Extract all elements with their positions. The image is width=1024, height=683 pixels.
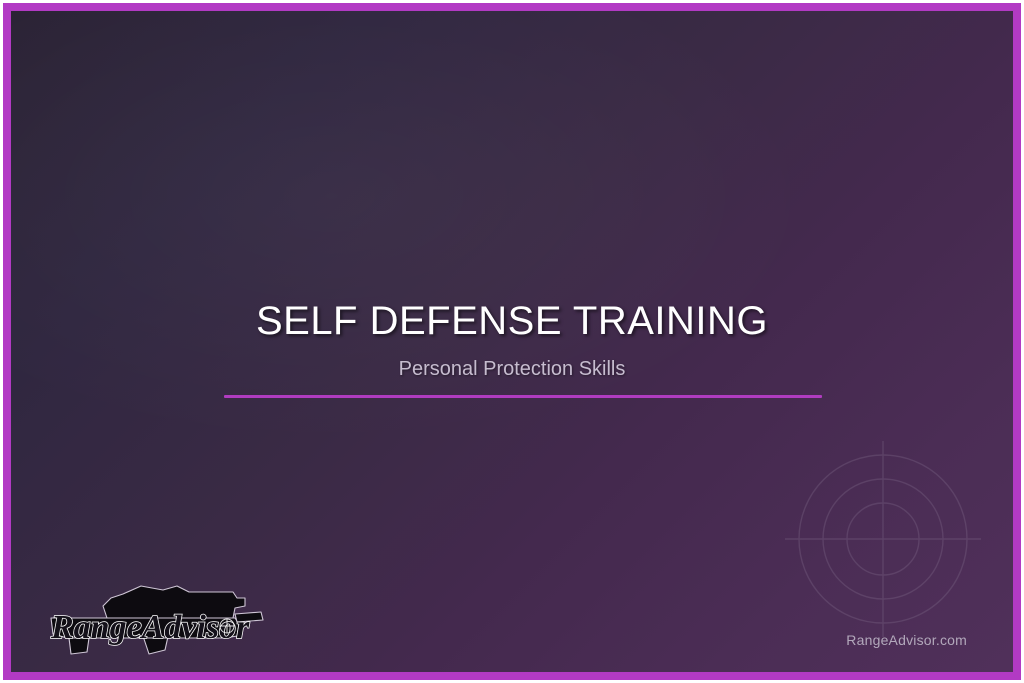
brand-logo: RangeAdvisor	[37, 576, 269, 672]
page-subtitle: Personal Protection Skills	[11, 357, 1013, 381]
title-block: SELF DEFENSE TRAINING Personal Protectio…	[11, 299, 1013, 381]
slide-canvas: SELF DEFENSE TRAINING Personal Protectio…	[11, 11, 1013, 672]
logo-scope-icon	[220, 619, 234, 633]
crosshair-target-icon	[783, 439, 983, 639]
title-divider	[224, 395, 822, 398]
slide-frame: SELF DEFENSE TRAINING Personal Protectio…	[0, 0, 1024, 683]
site-watermark: RangeAdvisor.com	[846, 632, 967, 648]
page-title: SELF DEFENSE TRAINING	[11, 299, 1013, 345]
slide-border: SELF DEFENSE TRAINING Personal Protectio…	[3, 3, 1021, 680]
